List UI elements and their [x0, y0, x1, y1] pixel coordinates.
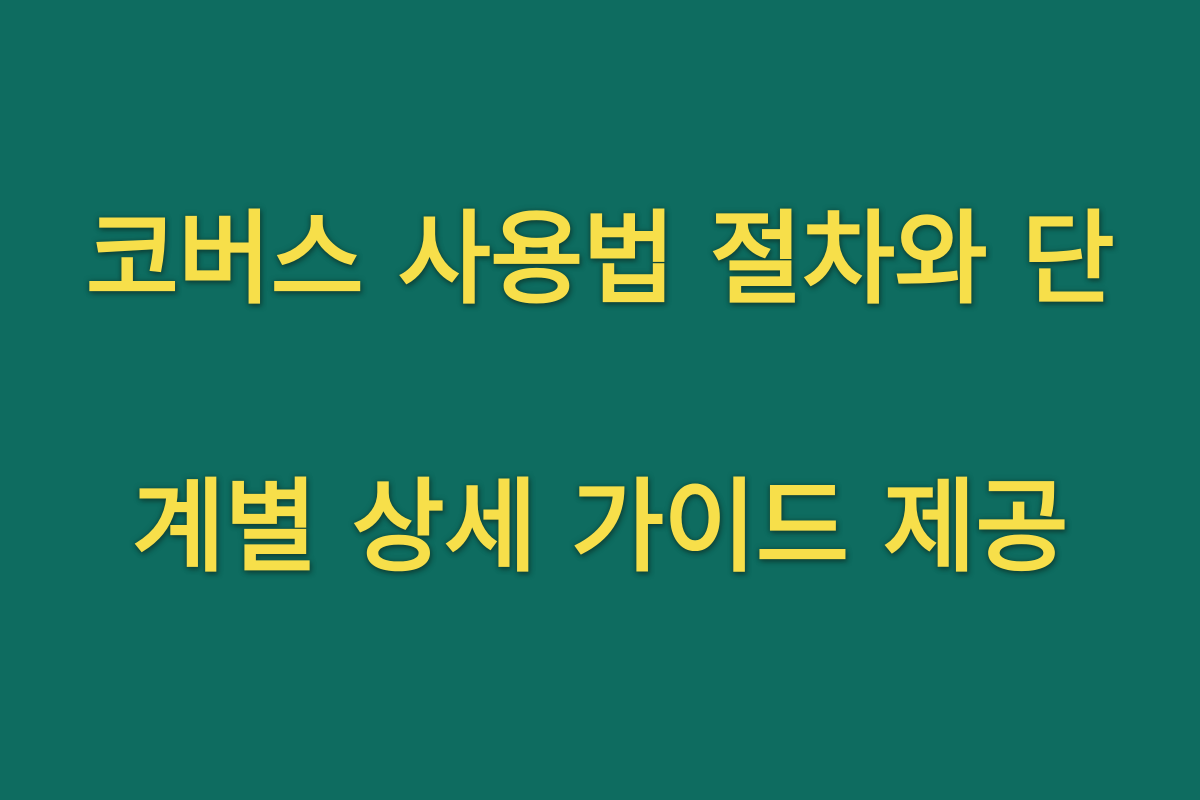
page-title: 코버스 사용법 절차와 단 계별 상세 가이드 제공	[50, 57, 1150, 743]
headline-line-2: 계별 상세 가이드 제공	[50, 460, 1150, 594]
banner-canvas: 코버스 사용법 절차와 단 계별 상세 가이드 제공	[0, 0, 1200, 800]
headline-line-1: 코버스 사용법 절차와 단	[50, 192, 1150, 326]
